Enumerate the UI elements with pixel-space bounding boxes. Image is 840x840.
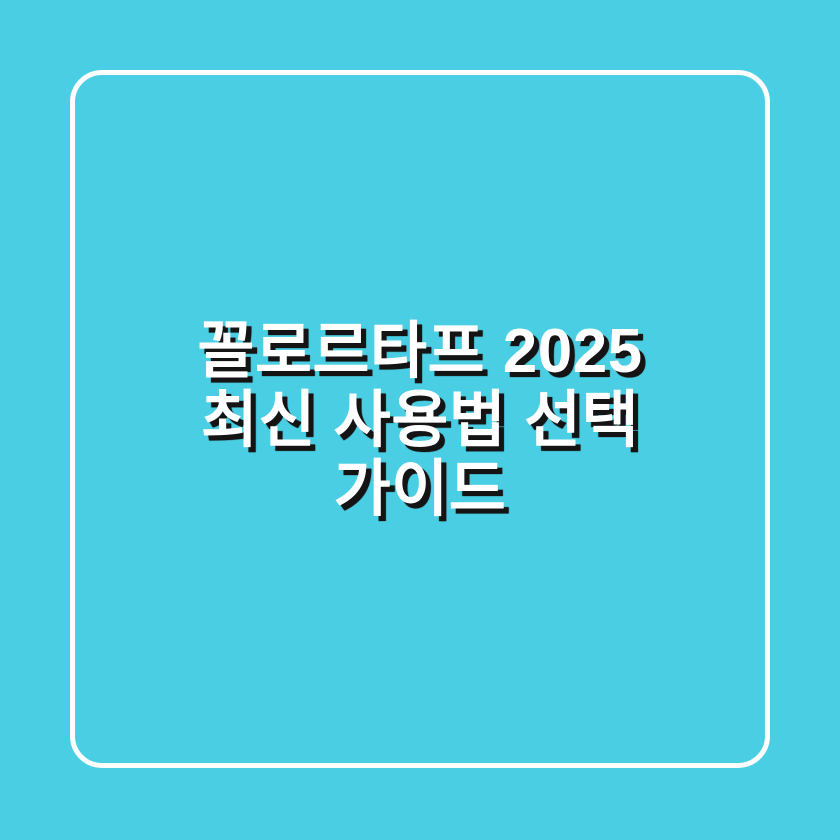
headline-line-1: 꼴로르타프 2025 <box>197 317 642 386</box>
page-title: 꼴로르타프 2025 최신 사용법 선택 가이드 <box>197 317 642 524</box>
headline-block: 꼴로르타프 2025 최신 사용법 선택 가이드 <box>0 0 840 840</box>
headline-line-2: 최신 사용법 선택 <box>197 386 642 455</box>
headline-line-3: 가이드 <box>197 455 642 524</box>
thumbnail-canvas: 꼴로르타프 2025 최신 사용법 선택 가이드 <box>0 0 840 840</box>
